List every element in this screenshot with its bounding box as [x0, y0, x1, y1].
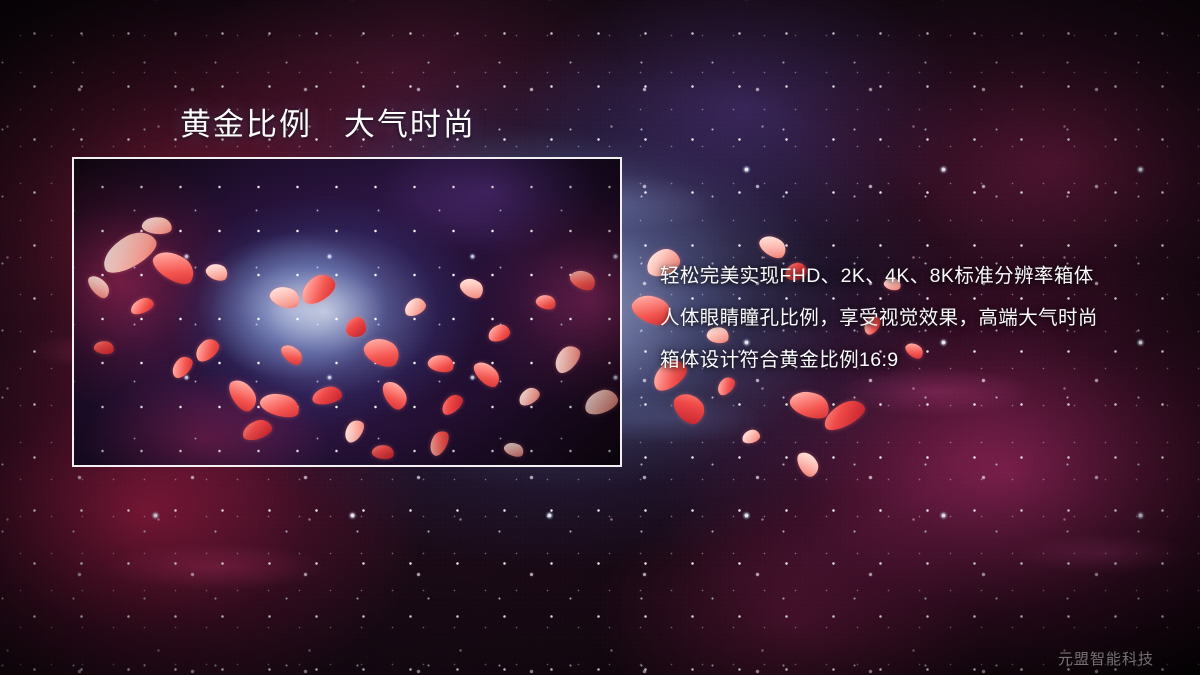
petal-shape: [794, 448, 822, 479]
body-line-3: 箱体设计符合黄金比例16:9: [660, 339, 1180, 381]
galaxy-image-panel: [72, 157, 622, 467]
petal-shape: [819, 395, 868, 434]
body-copy-block: 轻松完美实现FHD、2K、4K、8K标准分辨率箱体 人体眼睛瞳孔比例，享受视觉效…: [660, 255, 1180, 381]
petal-shape: [741, 428, 761, 444]
company-watermark: 元盟智能科技: [1058, 648, 1154, 669]
flower-petal: [741, 428, 761, 444]
petal-shape: [787, 385, 833, 423]
slide-title: 黄金比例 大气时尚: [180, 99, 476, 144]
body-line-2: 人体眼睛瞳孔比例，享受视觉效果，高端大气时尚: [660, 297, 1180, 339]
flower-petal: [794, 448, 822, 479]
panel-vignette-overlay: [74, 159, 620, 465]
petal-shape: [669, 387, 710, 429]
body-line-1: 轻松完美实现FHD、2K、4K、8K标准分辨率箱体: [660, 255, 1180, 297]
flower-petal: [669, 387, 710, 429]
presentation-slide: 黄金比例 大气时尚 轻松完美实现FHD、2K、4K、8K标准分辨率箱体 人体眼睛…: [0, 0, 1200, 675]
flower-petal: [819, 395, 868, 434]
flower-petal: [787, 385, 833, 423]
